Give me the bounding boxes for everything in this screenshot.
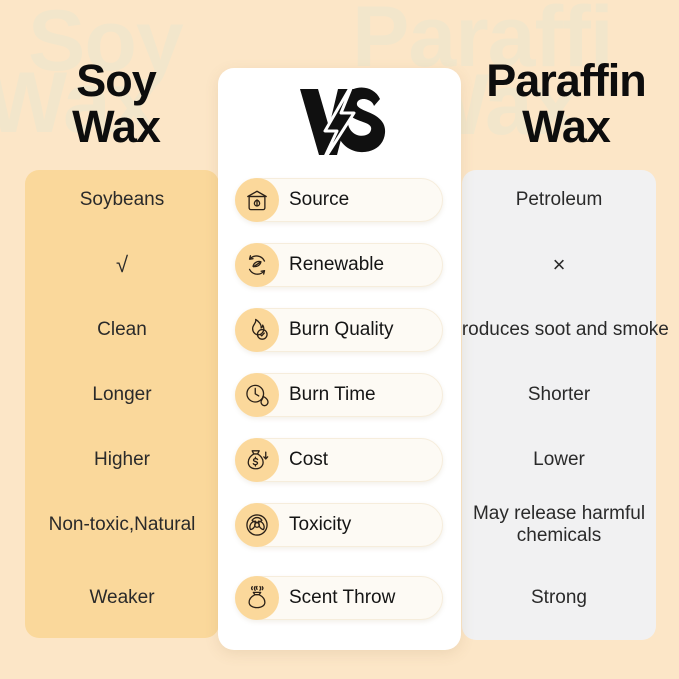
paraffin-value-text: Strong	[531, 587, 587, 609]
recycle-leaf-icon	[235, 243, 279, 287]
paraffin-value-text: Lower	[533, 449, 585, 471]
soy-value-cell: Non-toxic,Natural	[3, 502, 241, 548]
soy-value-cell: Clean	[3, 307, 241, 353]
soy-wax-column-panel: Soybeans√CleanLongerHigherNon-toxic,Natu…	[25, 170, 219, 638]
paraffin-value-cell: ×	[440, 242, 678, 288]
radiation-icon	[235, 503, 279, 547]
soy-value-text: Higher	[94, 449, 150, 471]
feature-row-label: Source	[289, 189, 349, 211]
paraffin-value-text: Petroleum	[516, 189, 603, 211]
heading-soy-line2: Wax	[0, 104, 232, 150]
feature-row-label: Burn Quality	[289, 319, 394, 341]
soy-value-cell: Longer	[3, 372, 241, 418]
heading-paraffin-wax: Paraffin Wax	[450, 58, 679, 150]
paraffin-values-column: Petroleum×Produces soot and smokeShorter…	[462, 170, 656, 640]
soy-value-text: Longer	[92, 384, 151, 406]
heading-paraffin-line1: Paraffin	[450, 58, 679, 104]
money-bag-icon	[235, 438, 279, 482]
paraffin-value-cell: May release harmful chemicals	[440, 502, 678, 548]
sack-of-beans-icon	[235, 178, 279, 222]
clock-flame-icon	[235, 373, 279, 417]
flame-check-icon	[235, 308, 279, 352]
paraffin-value-cell: Produces soot and smoke	[440, 307, 678, 353]
feature-row-label: Renewable	[289, 254, 384, 276]
feature-row-label: Burn Time	[289, 384, 376, 406]
soy-value-cell: √	[3, 242, 241, 288]
soy-value-text: Weaker	[89, 587, 154, 609]
soy-value-cell: Weaker	[3, 575, 241, 621]
soy-values-column: Soybeans√CleanLongerHigherNon-toxic,Natu…	[25, 170, 219, 638]
soy-value-cell: Soybeans	[3, 177, 241, 223]
soy-value-cell: Higher	[3, 437, 241, 483]
soy-value-text: Non-toxic,Natural	[49, 514, 196, 536]
infographic-root: Soy Wax Paraffi Wax Soy Wax Paraffin Wax…	[0, 0, 679, 679]
center-feature-card	[218, 68, 461, 650]
paraffin-value-cell: Petroleum	[440, 177, 678, 223]
paraffin-value-cell: Strong	[440, 575, 678, 621]
paraffin-value-cell: Shorter	[440, 372, 678, 418]
feature-row-label: Cost	[289, 449, 328, 471]
paraffin-value-text: Produces soot and smoke	[449, 319, 669, 341]
soy-value-text: Soybeans	[80, 189, 165, 211]
paraffin-value-text: Shorter	[528, 384, 590, 406]
feature-row-label: Toxicity	[289, 514, 351, 536]
paraffin-value-text: ×	[553, 252, 566, 278]
paraffin-value-cell: Lower	[440, 437, 678, 483]
soy-value-text: Clean	[97, 319, 147, 341]
heading-soy-wax: Soy Wax	[0, 58, 232, 150]
soy-value-text: √	[116, 252, 128, 278]
paraffin-wax-column-panel: Petroleum×Produces soot and smokeShorter…	[462, 170, 656, 640]
scent-bag-icon	[235, 576, 279, 620]
feature-row-label: Scent Throw	[289, 587, 395, 609]
heading-soy-line1: Soy	[0, 58, 232, 104]
heading-paraffin-line2: Wax	[450, 104, 679, 150]
paraffin-value-text: May release harmful chemicals	[440, 503, 678, 548]
